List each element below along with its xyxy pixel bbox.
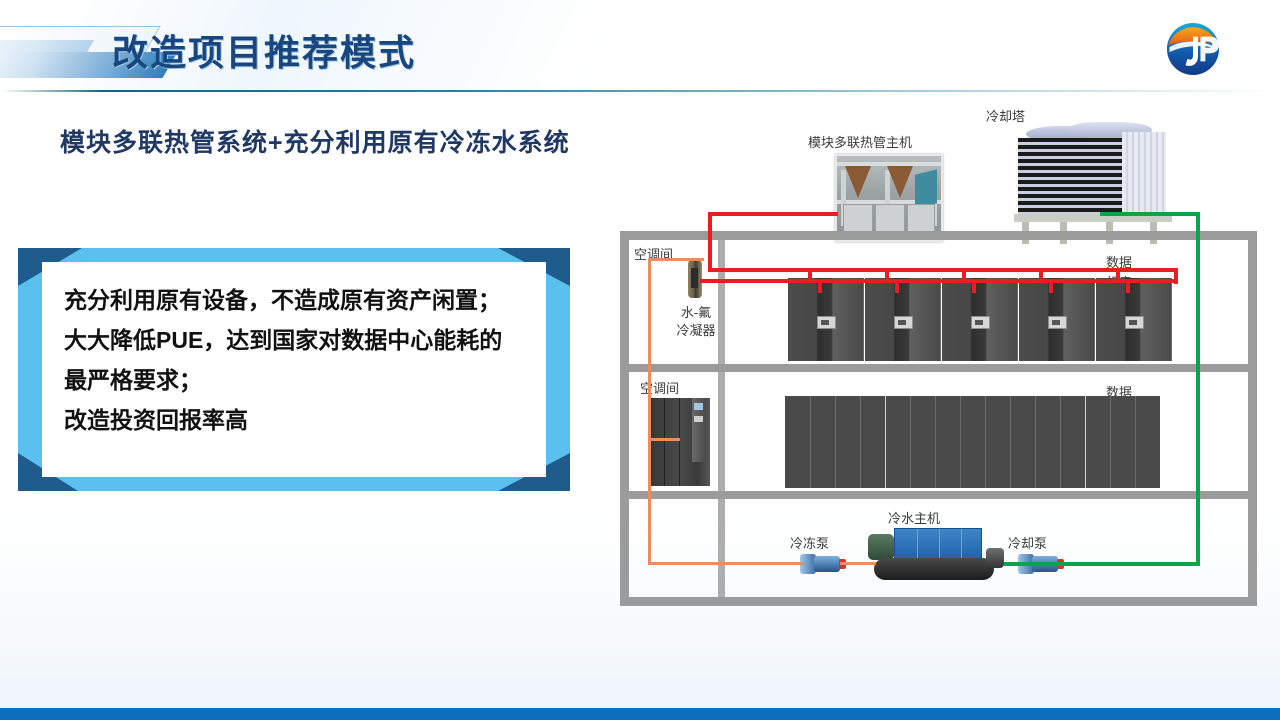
pipe-cooling-water-green [1100, 212, 1200, 216]
crac-unit [1096, 278, 1172, 361]
crac-unit [942, 278, 1018, 361]
pipe-refrigerant-branch [1049, 279, 1053, 293]
building-partition-ac-room [718, 372, 725, 491]
label-condenser-line1: 水-氟 [658, 304, 734, 322]
pipe-refrigerant-red [708, 212, 712, 272]
callout-line: 充分利用原有设备，不造成原有资产闲置； [64, 280, 532, 320]
slide-header: 改造项目推荐模式 [0, 0, 1280, 92]
building-partition-ac-room [718, 240, 725, 364]
pipe-chilled-water-orange [840, 562, 876, 565]
label-heat-pipe-host: 模块多联热管主机 [808, 132, 912, 151]
server-rack-row [785, 396, 1160, 488]
pipe-cooling-water-green [1196, 212, 1200, 564]
footer-accent-bar [0, 708, 1280, 720]
heat-pipe-host-photo [835, 154, 943, 242]
pipe-refrigerant-branch [962, 268, 966, 282]
callout-line: 改造投资回报率高 [64, 400, 532, 440]
pipe-refrigerant-red [708, 212, 838, 216]
pipe-cooling-water-green [1062, 562, 1200, 566]
slide-canvas: 改造项目推荐模式 模块多联热管系统+充分利用原有冷冻水系统 [0, 0, 1280, 720]
callout-content: 充分利用原有设备，不造成原有资产闲置； 大大降低PUE，达到国家对数据中心能耗的… [42, 262, 546, 477]
company-globe-logo [1162, 18, 1224, 80]
crac-unit [1019, 278, 1095, 361]
building-wall-left [620, 231, 629, 606]
section-subtitle: 模块多联热管系统+充分利用原有冷冻水系统 [60, 123, 570, 159]
benefits-callout-box: 充分利用原有设备，不造成原有资产闲置； 大大降低PUE，达到国家对数据中心能耗的… [18, 248, 570, 491]
water-chiller-graphic [868, 528, 1008, 586]
crac-unit [865, 278, 941, 361]
system-schematic-diagram: 模块多联热管主机 冷却塔 [600, 96, 1280, 626]
pipe-refrigerant-branch [895, 279, 899, 293]
label-cooling-tower: 冷却塔 [986, 106, 1025, 125]
pipe-chilled-water-orange [648, 562, 804, 565]
header-divider-rule [0, 90, 1280, 92]
pipe-refrigerant-red [1174, 268, 1178, 284]
page-title: 改造项目推荐模式 [112, 24, 416, 76]
pipe-chilled-water-orange [648, 258, 704, 261]
pipe-refrigerant-branch [885, 268, 889, 282]
label-ac-room-floor2: 空调间 [640, 378, 679, 397]
callout-line: 大大降低PUE，达到国家对数据中心能耗的 [64, 320, 532, 360]
crac-unit [788, 278, 864, 361]
cooling-tower-graphic [1018, 126, 1174, 248]
label-cooling-pump: 冷却泵 [1008, 533, 1047, 552]
pipe-refrigerant-branch [808, 268, 812, 282]
building-slab-floor2 [620, 491, 1257, 499]
building-partition-ac-room [718, 499, 725, 597]
pipe-refrigerant-branch [1116, 268, 1120, 282]
label-chiller-main: 冷水主机 [888, 508, 940, 527]
crac-cabinet-floor2 [648, 398, 710, 486]
pipe-chilled-water-orange [648, 258, 651, 564]
pipe-refrigerant-red [700, 279, 1178, 283]
pipe-refrigerant-branch [818, 279, 822, 293]
building-ground-floor-slab [620, 597, 1257, 606]
building-roof [620, 231, 1257, 240]
pipe-refrigerant-branch [1039, 268, 1043, 282]
pipe-refrigerant-branch [972, 279, 976, 293]
callout-line: 最严格要求； [64, 360, 532, 400]
building-wall-right [1248, 231, 1257, 606]
label-condenser-line2: 冷凝器 [658, 322, 734, 340]
pipe-chilled-water-orange [648, 438, 680, 441]
pipe-refrigerant-branch [1126, 279, 1130, 293]
pipe-refrigerant-red [708, 268, 1178, 272]
label-chilled-pump: 冷冻泵 [790, 533, 829, 552]
building-slab-floor3 [620, 364, 1257, 372]
